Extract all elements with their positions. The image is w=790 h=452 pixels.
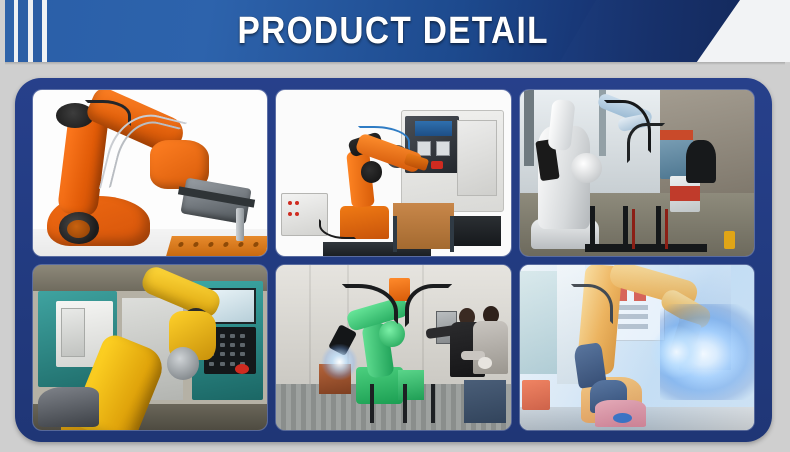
cnc-control-panel [415, 121, 452, 136]
page-header-banner: PRODUCT DETAIL [0, 0, 790, 63]
table-legs [393, 216, 454, 252]
fixture-stand-1 [370, 384, 374, 424]
welding-arc-spark [321, 344, 358, 380]
fixture-stand-2 [403, 384, 407, 424]
page-title: PRODUCT DETAIL [46, 0, 715, 62]
dark-fixture [686, 140, 716, 183]
power-cable [319, 219, 356, 239]
equipment-cabinet-red-band [670, 186, 700, 201]
yellow-bollard [724, 231, 736, 249]
gallery-item-5[interactable]: Green welding robot arc welding while tw… [276, 265, 510, 431]
welding-cable-1 [632, 209, 635, 249]
cnc-door [457, 120, 497, 196]
gallery-item-3[interactable]: White six-axis robot installed in a work… [520, 90, 754, 256]
fixture-rail [585, 244, 707, 252]
robot-hose-lower [627, 123, 664, 163]
banner-drop-shadow [5, 62, 785, 65]
gallery-item-4[interactable]: Yellow robot arm loading teal CNC lathes… [33, 265, 267, 431]
light-wash-overlay [520, 265, 754, 431]
fixture-post-1 [590, 206, 595, 252]
banner-stripe-3 [18, 0, 28, 62]
gallery-item-2[interactable]: Orange robot arm tending a white CNC lat… [276, 90, 510, 256]
cnc-emergency-stop [235, 364, 249, 374]
welding-cable-2 [665, 209, 668, 249]
robot-joint [571, 153, 601, 183]
gallery-grid: Orange six-axis industrial robot arm wit… [33, 90, 754, 430]
wall-seam-1 [309, 265, 311, 387]
banner-stripe-1 [5, 0, 14, 62]
gallery-frame: Orange six-axis industrial robot arm wit… [15, 78, 772, 442]
cnc-gauge-1 [436, 141, 450, 156]
structural-beam-1 [524, 90, 533, 166]
technician-2-legs [464, 380, 506, 423]
workpiece-pin [236, 208, 244, 241]
robot-hose-right [405, 284, 452, 327]
banner-stripe-5 [33, 0, 42, 62]
technician-glove [478, 357, 492, 369]
robot-shoulder-joint [361, 161, 382, 183]
floor-machinery [38, 387, 99, 427]
gallery-item-6[interactable]: Orange welding robot in operation with b… [520, 265, 754, 431]
parts-tray [166, 236, 267, 256]
fixture-stand-3 [431, 384, 435, 424]
cnc-lathe-left-door [61, 308, 84, 358]
fixture-post-3 [656, 206, 661, 252]
cnc-emergency-button [431, 161, 443, 169]
fixture-post-2 [623, 206, 628, 252]
welder-cabinet-top [660, 130, 693, 140]
gallery-item-1[interactable]: Orange six-axis industrial robot arm wit… [33, 90, 267, 256]
